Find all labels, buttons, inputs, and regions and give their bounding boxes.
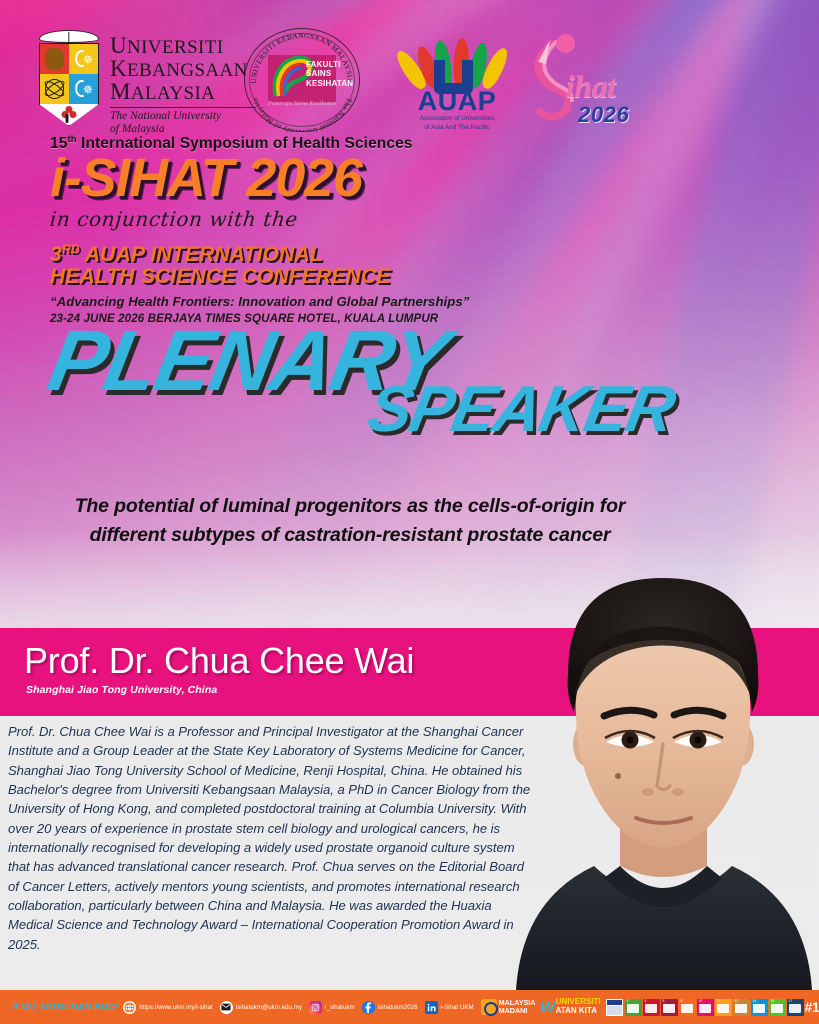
website-url: https://www.ukm.my/i-sihat [139, 1004, 212, 1011]
ukm-name-line-1: UNIVERSITI [110, 35, 256, 58]
isihat-2026-logo: ihat 2026 [520, 26, 640, 136]
email-address: isihatukm@ukm.edu.my [236, 1004, 302, 1011]
conjunction-text: in conjunction with the [49, 207, 592, 231]
ukm-logo: ✵ ✵ UNIVERSITI KEBANGSAAN MALAYSIA The N… [36, 30, 256, 136]
speaker-word: SPEAKER [363, 376, 679, 441]
facebook-icon [362, 1001, 375, 1014]
universiti-watan-kita-badge: W UNIVERSITI ATAN KITA [540, 998, 600, 1015]
malaysia-madani-line-2: MADANI [499, 1007, 536, 1015]
speaker-name: Prof. Dr. Chua Chee Wai [24, 640, 414, 682]
sdg-icon-3: 3 [625, 999, 642, 1016]
sdg-icon-15: 15 [769, 999, 786, 1016]
sdg-icon-4: 4 [643, 999, 660, 1016]
plenary-speaker-heading: PLENARY SPEAKER [0, 318, 819, 468]
ukm-crest-icon: ✵ ✵ [36, 30, 102, 125]
sdg-icon-8: 8 [661, 999, 678, 1016]
event-title-block: 15th International Symposium of Health S… [50, 134, 590, 325]
logo-row: ✵ ✵ UNIVERSITI KEBANGSAAN MALAYSIA The N… [36, 26, 819, 131]
linkedin-icon [425, 1001, 438, 1014]
sdg-icon-11: 11 [715, 999, 732, 1016]
linkedin-handle: i-Sihat UKM [441, 1004, 474, 1011]
speaker-portrait [508, 548, 819, 990]
malaysia-madani-icon [481, 999, 497, 1015]
footer-motto: ILMU, MUTU DAN BUDI [12, 1002, 117, 1012]
uwk-line-2: ATAN KITA [556, 1006, 597, 1015]
speaker-affiliation: Shanghai Jiao Tong University, China [26, 684, 217, 696]
instagram-handle: i_sihatukm [325, 1004, 355, 1011]
footer-website[interactable]: https://www.ukm.my/i-sihat [123, 1001, 212, 1014]
conference-name: 3RD AUAP INTERNATIONAL HEALTH SCIENCE CO… [50, 238, 590, 288]
event-name: i-SIHAT 2026 [50, 151, 590, 205]
footer-email[interactable]: isihatukm@ukm.edu.my [220, 1001, 302, 1014]
portrait-illustration [508, 548, 819, 990]
footer-instagram[interactable]: i_sihatukm [309, 1001, 355, 1014]
footer-bar: ILMU, MUTU DAN BUDI https://www.ukm.my/i… [0, 990, 819, 1024]
instagram-icon [309, 1001, 322, 1014]
fsk-tagline: Peneraju Sains Kesihatan [260, 100, 344, 107]
sihat-year: 2026 [578, 102, 629, 128]
ukm-name-line-2: KEBANGSAAN [110, 58, 256, 81]
auap-petals-icon [398, 32, 516, 88]
sdg-icon-14: 14 [751, 999, 768, 1016]
talk-title: The potential of luminal progenitors as … [70, 492, 630, 550]
sdg-icon-10: 10 [697, 999, 714, 1016]
ukm-tagline-line-1: The National University [110, 110, 256, 123]
auap-logo: AUAP Association of Universities of Asia… [398, 32, 516, 130]
facebook-handle: isihatukm2026 [378, 1004, 418, 1011]
footer-linkedin[interactable]: i-Sihat UKM [425, 1001, 474, 1014]
globe-icon [123, 1001, 136, 1014]
auap-sub-line-2: of Asia And The Pacific [398, 124, 516, 132]
sihat-wordmark: ihat [566, 68, 616, 105]
faculty-health-sciences-logo: UNIVERSITI KEBANGSAAN MALAYSIA The Natio… [244, 28, 360, 132]
footer-facebook[interactable]: isihatukm2026 [362, 1001, 418, 1014]
rank-number-1: #126 [805, 999, 819, 1015]
ukm-name-line-3: MALAYSIA [110, 81, 256, 104]
sdg-icon-17: 17 [787, 999, 804, 1016]
malaysia-madani-badge: MALAYSIA MADANI [481, 999, 536, 1015]
conference-theme: “Advancing Health Frontiers: Innovation … [50, 294, 590, 309]
ranking-badge-126: #126 [805, 999, 819, 1015]
sdg-label-icon [606, 999, 623, 1016]
sihat-dot-icon [556, 34, 575, 53]
auap-sub-line-1: Association of Universities [398, 115, 516, 123]
plenary-speaker-poster: ✵ ✵ UNIVERSITI KEBANGSAAN MALAYSIA The N… [0, 0, 819, 1024]
uwk-w-letter: W [540, 1000, 554, 1015]
sdg-icon-12: 12 [733, 999, 750, 1016]
mail-icon [220, 1001, 233, 1014]
speaker-bio: Prof. Dr. Chua Chee Wai is a Professor a… [8, 722, 533, 954]
sdg-icon-9: 9 [679, 999, 696, 1016]
fsk-words: FAKULTI SAINS KESIHATAN [306, 60, 353, 88]
